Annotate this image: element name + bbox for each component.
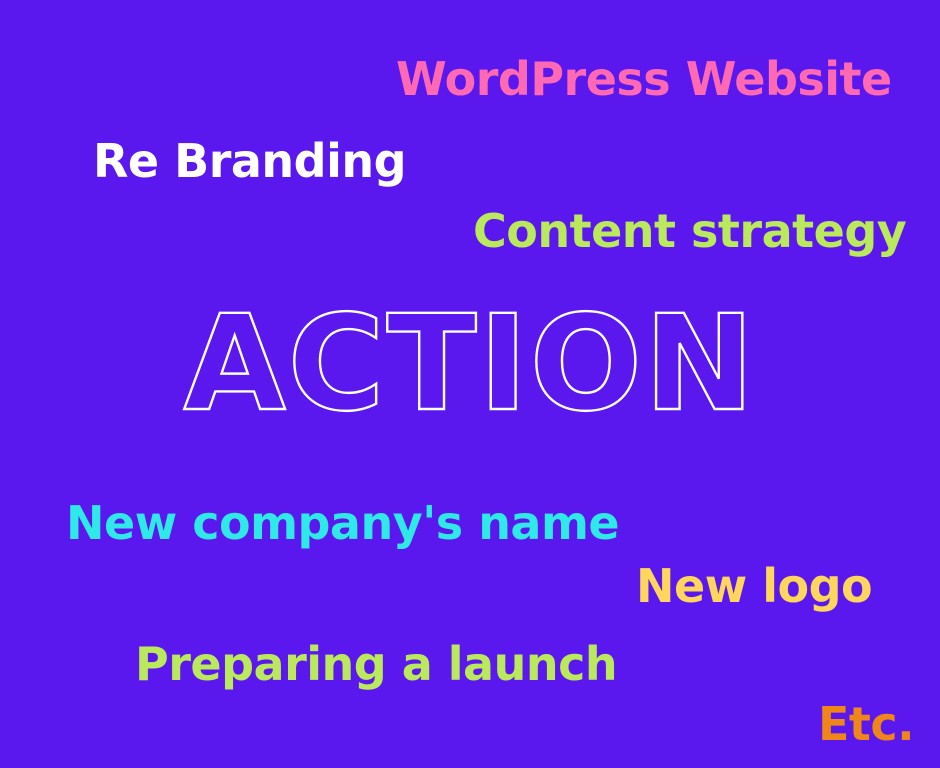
word-re-branding: Re Branding (93, 138, 406, 184)
word-new-logo: New logo (636, 563, 872, 609)
word-preparing-a-launch: Preparing a launch (135, 641, 617, 687)
word-wordpress-website: WordPress Website (396, 56, 892, 102)
word-content-strategy: Content strategy (473, 208, 906, 254)
headline-action-outline: ACTION (0, 306, 940, 442)
headline-action-label: ACTION (184, 306, 757, 441)
word-new-companys-name: New company's name (66, 500, 619, 546)
word-etc: Etc. (818, 701, 914, 747)
slide-canvas: WordPress Website Re Branding Content st… (0, 0, 940, 768)
headline-action: ACTION (0, 306, 940, 442)
